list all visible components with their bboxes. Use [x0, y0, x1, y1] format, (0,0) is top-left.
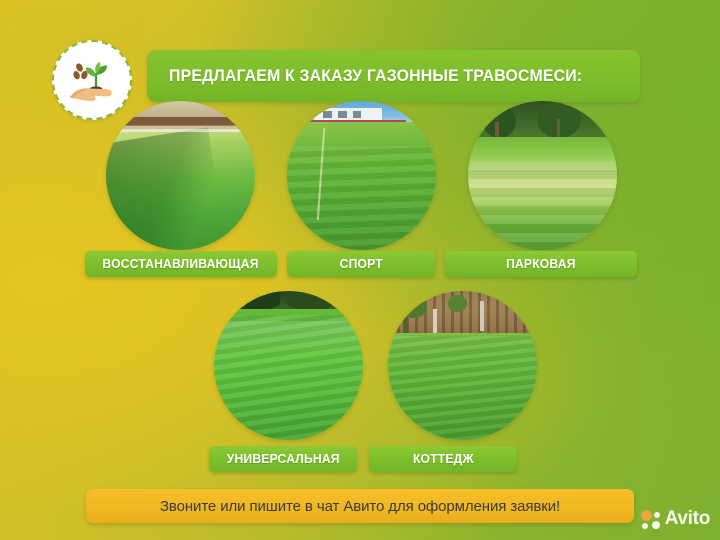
avito-dots-logo	[641, 510, 660, 529]
mix-label-kottedzh[interactable]: КОТТЕДЖ	[369, 446, 517, 472]
lawn-with-terraces-photo	[106, 101, 255, 250]
page-title: ПРЕДЛАГАЕМ К ЗАКАЗУ ГАЗОННЫЕ ТРАВОСМЕСИ:	[169, 67, 582, 86]
mix-label-text: УНИВЕРСАЛЬНАЯ	[227, 452, 340, 466]
universal-lawn-photo	[214, 291, 363, 440]
cta-text: Звоните или пишите в чат Авито для оформ…	[160, 498, 560, 515]
header: ПРЕДЛАГАЕМ К ЗАКАЗУ ГАЗОННЫЕ ТРАВОСМЕСИ:	[0, 18, 720, 94]
mix-label-text: СПОРТ	[339, 257, 382, 271]
promo-poster: ПРЕДЛАГАЕМ К ЗАКАЗУ ГАЗОННЫЕ ТРАВОСМЕСИ:	[0, 0, 720, 540]
mix-label-sport[interactable]: СПОРТ	[287, 251, 435, 277]
sports-field-photo	[287, 101, 436, 250]
mix-label-parkovaya[interactable]: ПАРКОВАЯ	[445, 251, 637, 277]
mix-label-text: ПАРКОВАЯ	[506, 257, 576, 271]
avito-watermark: Avito	[641, 506, 710, 532]
cottage-lawn-photo	[388, 291, 537, 440]
mix-label-vosstanavlivayushchaya[interactable]: ВОССТАНАВЛИВАЮЩАЯ	[85, 251, 277, 277]
cta-banner[interactable]: Звоните или пишите в чат Авито для оформ…	[86, 489, 634, 523]
mix-label-universalnaya[interactable]: УНИВЕРСАЛЬНАЯ	[209, 446, 357, 472]
park-lawn-photo	[468, 101, 617, 250]
mix-label-text: КОТТЕДЖ	[413, 452, 474, 466]
mix-label-text: ВОССТАНАВЛИВАЮЩАЯ	[103, 257, 259, 271]
avito-wordmark: Avito	[665, 508, 710, 530]
title-banner: ПРЕДЛАГАЕМ К ЗАКАЗУ ГАЗОННЫЕ ТРАВОСМЕСИ:	[147, 50, 640, 102]
